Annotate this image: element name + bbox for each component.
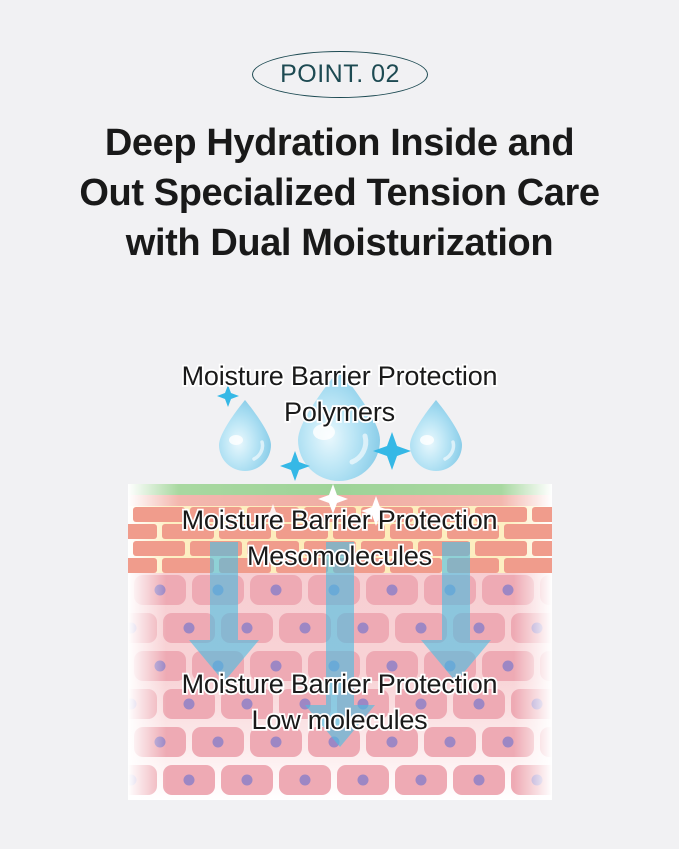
caption-low-molecules-line-2: Low molecules: [0, 702, 679, 738]
caption-mesomolecules-line-1: Moisture Barrier Protection: [0, 502, 679, 538]
skin-cell: [279, 765, 331, 795]
page-title-line-3: with Dual Moisturization: [0, 218, 679, 268]
page-title-line-1: Deep Hydration Inside and: [0, 118, 679, 168]
cell-nucleus: [387, 585, 398, 596]
skin-cell: [511, 765, 552, 795]
skin-cell: [395, 765, 447, 795]
point-badge-label: POINT. 02: [280, 60, 400, 89]
cell-nucleus: [416, 775, 427, 786]
caption-polymers: Moisture Barrier Protection Polymers: [0, 358, 679, 430]
cell-nucleus: [474, 775, 485, 786]
cell-nucleus: [532, 623, 543, 634]
cell-nucleus: [128, 775, 137, 786]
cell-nucleus: [213, 737, 224, 748]
caption-mesomolecules-line-2: Mesomolecules: [0, 538, 679, 574]
skin-cell: [221, 765, 273, 795]
cell-nucleus: [271, 737, 282, 748]
cell-nucleus: [184, 775, 195, 786]
cell-nucleus: [155, 737, 166, 748]
caption-polymers-line-1: Moisture Barrier Protection: [0, 358, 679, 394]
cell-nucleus: [532, 775, 543, 786]
cell-nucleus: [445, 737, 456, 748]
cell-row: [128, 763, 552, 800]
caption-low-molecules: Moisture Barrier Protection Low molecule…: [0, 666, 679, 738]
cell-nucleus: [128, 623, 137, 634]
skin-cell: [511, 613, 552, 643]
page-title: Deep Hydration Inside and Out Specialize…: [0, 118, 679, 268]
caption-polymers-line-2: Polymers: [0, 394, 679, 430]
page-title-line-2: Out Specialized Tension Care: [0, 168, 679, 218]
caption-low-molecules-line-1: Moisture Barrier Protection: [0, 666, 679, 702]
point-badge: POINT. 02: [252, 51, 428, 98]
cell-nucleus: [242, 775, 253, 786]
cell-nucleus: [358, 775, 369, 786]
skin-cell: [128, 765, 157, 795]
skin-cell: [163, 765, 215, 795]
skin-cell: [337, 765, 389, 795]
cell-nucleus: [155, 585, 166, 596]
cell-nucleus: [387, 737, 398, 748]
skin-cell: [128, 613, 157, 643]
cell-nucleus: [300, 775, 311, 786]
caption-mesomolecules: Moisture Barrier Protection Mesomolecule…: [0, 502, 679, 574]
cell-nucleus: [503, 585, 514, 596]
skin-cell: [540, 575, 552, 605]
cell-nucleus: [271, 585, 282, 596]
skin-cell: [134, 575, 186, 605]
skin-cell: [453, 765, 505, 795]
cell-nucleus: [503, 737, 514, 748]
